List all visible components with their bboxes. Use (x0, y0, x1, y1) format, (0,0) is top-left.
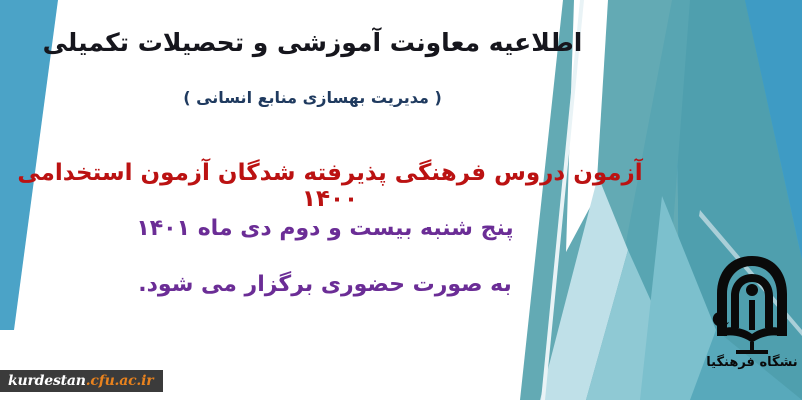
page-title: اطلاعیه معاونت آموزشی و تحصیلات تکمیلی (0, 26, 625, 61)
exam-mode-line: به صورت حضوری برگزار می شود. (0, 272, 650, 297)
exam-date-line: پنج شنبه بیست و دوم دی ماه ۱۴۰۱ (0, 216, 650, 241)
exam-announcement-line: آزمون دروس فرهنگی پذیرفته شدگان آزمون اس… (0, 160, 660, 212)
university-logo: دانشگاه فرهنگیان (706, 252, 798, 370)
farhangian-university-emblem-icon: دانشگاه فرهنگیان (706, 252, 798, 370)
site-watermark: kurdestan.cfu.ac.ir (0, 370, 163, 392)
watermark-site-domain: .cfu.ac.ir (86, 373, 154, 389)
page-subtitle: ( مدیریت بهسازی منابع انسانی ) (0, 88, 625, 107)
announcement-poster: اطلاعیه معاونت آموزشی و تحصیلات تکمیلی (… (0, 0, 802, 400)
watermark-site-name: kurdestan (8, 373, 86, 389)
logo-caption: دانشگاه فرهنگیان (706, 354, 798, 370)
